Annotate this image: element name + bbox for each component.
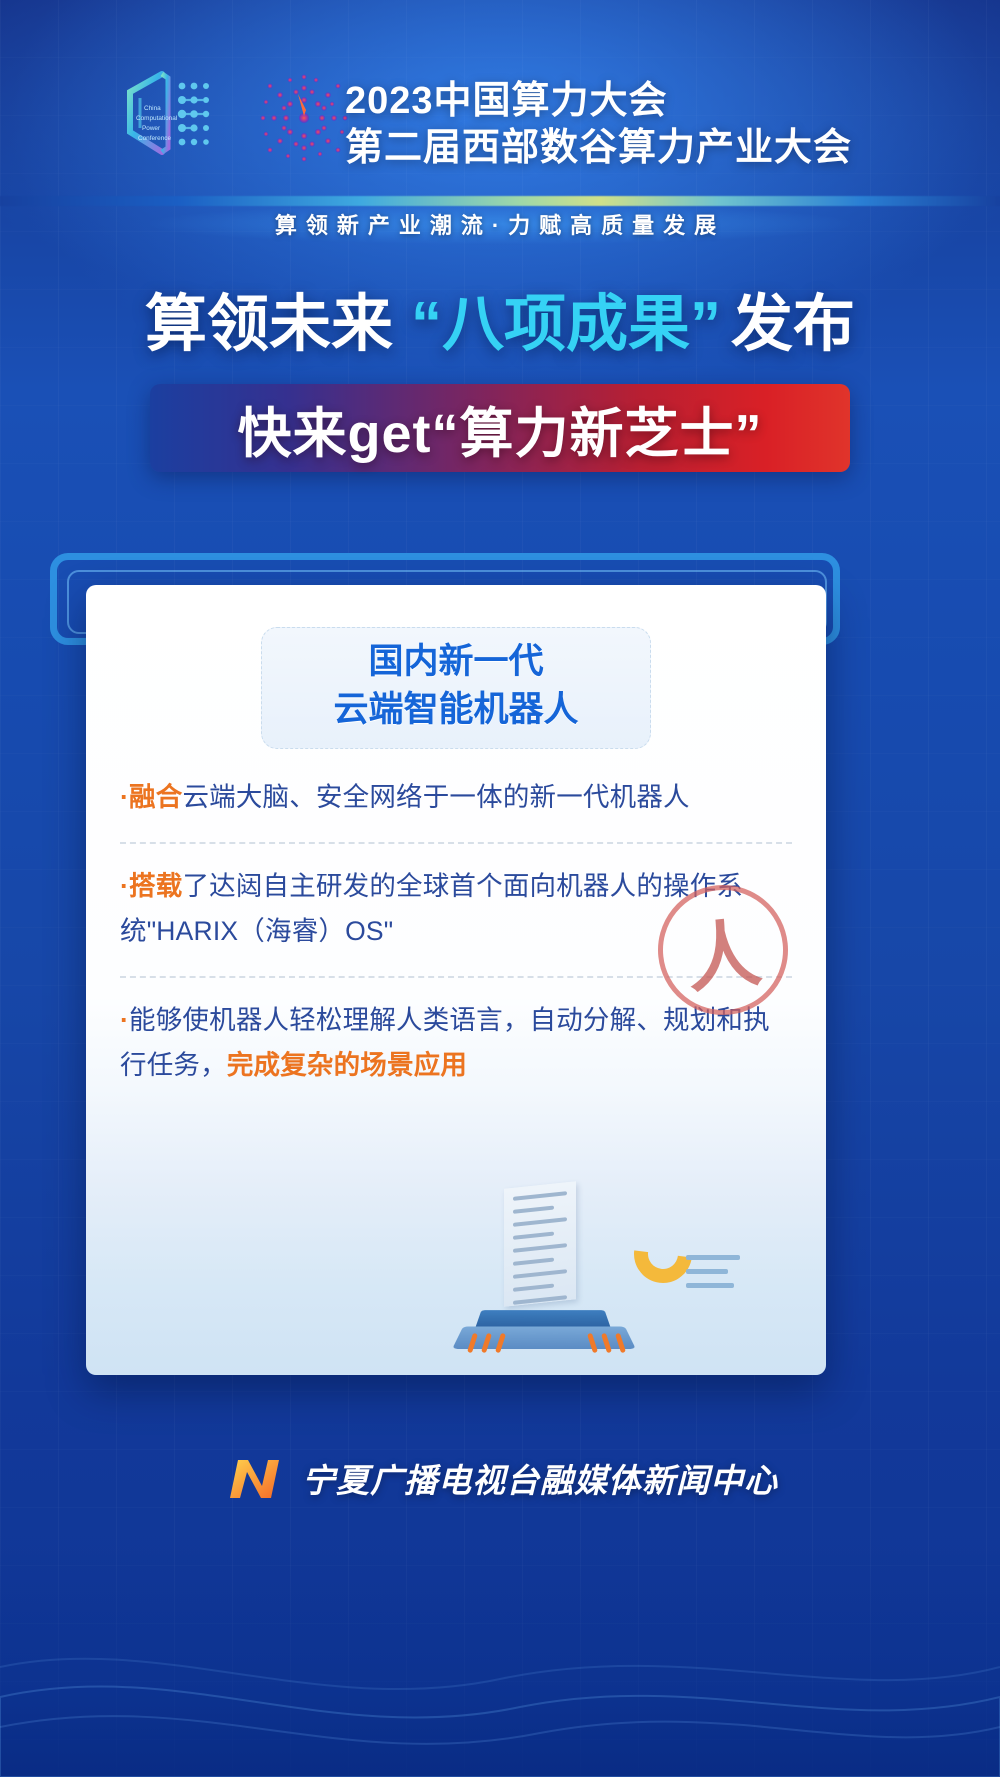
line-bars-decor: [686, 1255, 740, 1297]
card-title-line2: 云端智能机器人: [262, 686, 650, 734]
conference-title-line1: 2023中国算力大会: [345, 78, 852, 124]
poster-root: China Computational Power Conference: [0, 0, 1000, 1777]
stamp-character: 人: [681, 893, 766, 1007]
bullet-text: 云端大脑、安全网络于一体的新一代机器人: [182, 782, 689, 812]
header: China Computational Power Conference: [0, 0, 1000, 196]
bullet-text: 了达闼自主研发的全球首个面向机器人的操作系统"HARIX（海睿）OS": [120, 871, 743, 946]
card-title-line1: 国内新一代: [262, 638, 650, 686]
achievement-card: 国内新一代 云端智能机器人 ·融合云端大脑、安全网络于一体的新一代机器人 ·搭载…: [86, 585, 826, 1375]
headline-line1-part1: 算领未来: [145, 290, 393, 359]
bullet-divider: [120, 842, 792, 844]
document-icon: [504, 1181, 576, 1307]
ningxia-tv-logo-icon: [222, 1452, 288, 1504]
bullet-highlight: 融合: [129, 782, 182, 812]
bullet-item: ·融合云端大脑、安全网络于一体的新一代机器人: [120, 775, 792, 820]
bullet-marker: ·: [120, 871, 129, 901]
orange-wires-decor: [464, 1327, 634, 1353]
svg-text:Conference: Conference: [138, 135, 171, 142]
svg-text:China: China: [144, 105, 161, 112]
bullet-marker: ·: [120, 1005, 129, 1035]
bullet-item: ·能够使机器人轻松理解人类语言，自动分解、规划和执行任务，完成复杂的场景应用: [120, 998, 792, 1088]
conference-title-line2: 第二届西部数谷算力产业大会: [345, 124, 852, 172]
bullet-tail-highlight: 完成复杂的场景应用: [227, 1050, 467, 1080]
bullet-highlight: 搭载: [129, 871, 182, 901]
content-card-zone: 国内新一代 云端智能机器人 ·融合云端大脑、安全网络于一体的新一代机器人 ·搭载…: [50, 553, 950, 1383]
headline-line2: 快来get“算力新芝士”: [150, 384, 850, 472]
footer-organization-name: 宁夏广播电视台融媒体新闻中心: [302, 1454, 778, 1502]
svg-text:Computational: Computational: [136, 115, 177, 122]
headline-line1-part2: “八项成果”: [411, 290, 721, 359]
headline-line1-part3: 发布: [731, 290, 855, 359]
footer: 宁夏广播电视台融媒体新闻中心: [0, 1418, 1000, 1538]
headline-line1: 算领未来“八项成果”发布: [0, 282, 1000, 368]
card-title-badge: 国内新一代 云端智能机器人: [261, 627, 651, 749]
slogan-strip: 算领新产业潮流·力赋高质量发展: [0, 196, 1000, 250]
logo-group: China Computational Power Conference: [110, 58, 364, 178]
svg-text:Power: Power: [142, 125, 161, 132]
bullet-marker: ·: [120, 782, 129, 812]
headline-red-banner: 快来get“算力新芝士”: [150, 384, 850, 472]
conference-title: 2023中国算力大会 第二届西部数谷算力产业大会: [345, 78, 852, 172]
card-illustration: [86, 1175, 826, 1375]
bottom-wave-decor: [0, 1547, 1000, 1777]
headline-block: 算领未来“八项成果”发布 快来get“算力新芝士”: [0, 282, 1000, 472]
china-computational-power-conference-logo: China Computational Power Conference: [110, 58, 230, 178]
slogan-text: 算领新产业潮流·力赋高质量发展: [0, 208, 1000, 240]
